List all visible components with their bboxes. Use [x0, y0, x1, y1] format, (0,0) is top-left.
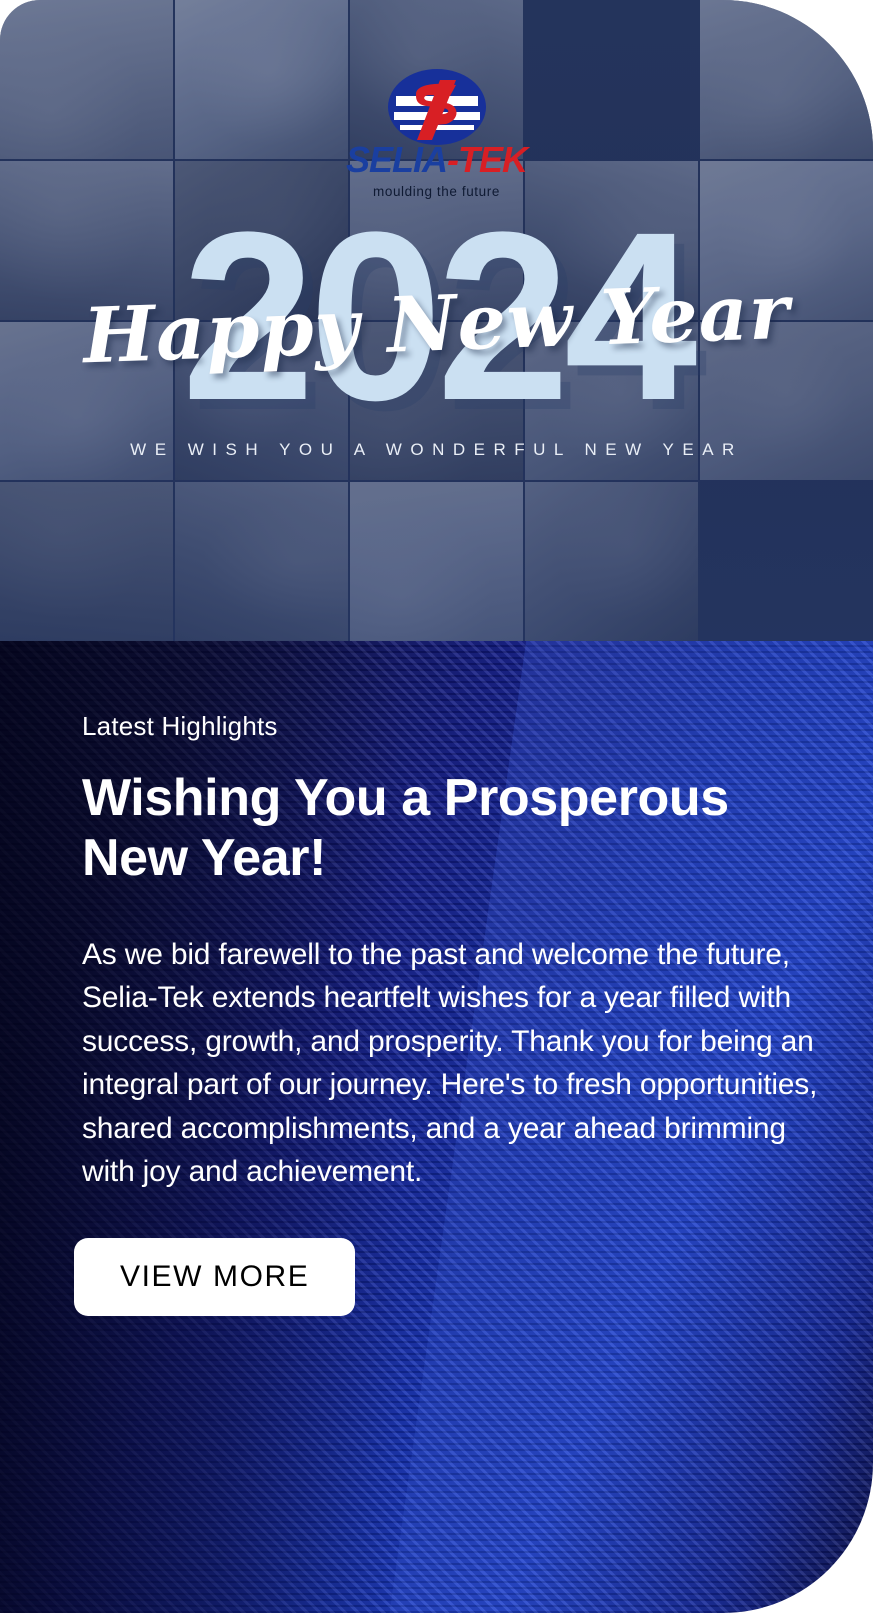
- brand-logo: SELIA-TEK moulding the future: [0, 68, 873, 199]
- brand-tagline: moulding the future: [373, 184, 500, 199]
- hero-banner: 2024 SELIA-TEK moulding the future Happy…: [0, 0, 873, 641]
- greeting-card: 2024 SELIA-TEK moulding the future Happy…: [0, 0, 873, 1613]
- panel-content: Latest Highlights Wishing You a Prospero…: [82, 711, 833, 1316]
- selia-tek-logo-mark-icon: [386, 68, 488, 146]
- page-title: Wishing You a Prosperous New Year!: [82, 768, 782, 889]
- section-eyebrow: Latest Highlights: [82, 711, 833, 742]
- view-more-button[interactable]: VIEW MORE: [74, 1238, 355, 1316]
- highlights-panel: Latest Highlights Wishing You a Prospero…: [0, 641, 873, 1613]
- brand-wordmark: SELIA-TEK: [346, 142, 527, 178]
- body-paragraph: As we bid farewell to the past and welco…: [82, 933, 822, 1194]
- wish-line: WE WISH YOU A WONDERFUL NEW YEAR: [0, 440, 873, 460]
